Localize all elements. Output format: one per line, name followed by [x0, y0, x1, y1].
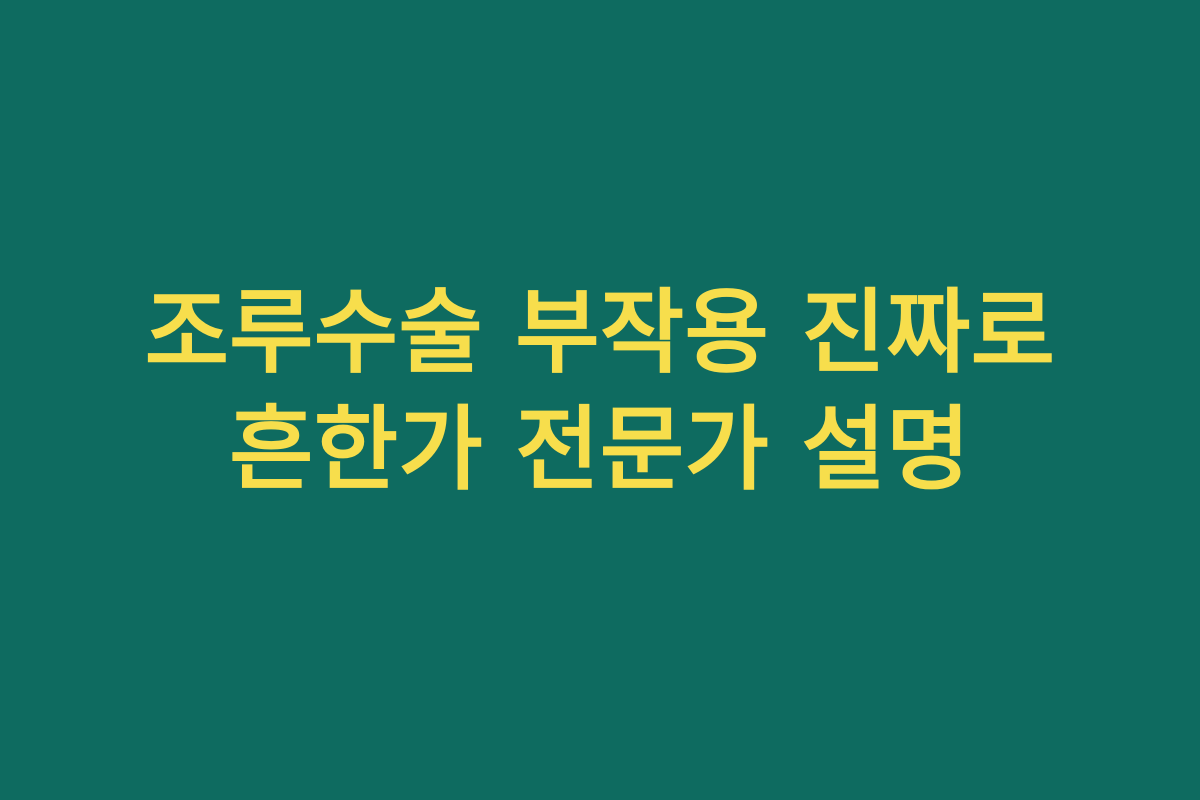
headline-line-2: 흔한가 전문가 설명 — [40, 391, 1160, 508]
headline-text-block: 조루수술 부작용 진짜로 흔한가 전문가 설명 — [40, 274, 1160, 508]
banner-canvas: 조루수술 부작용 진짜로 흔한가 전문가 설명 — [0, 0, 1200, 800]
headline-line-1: 조루수술 부작용 진짜로 — [40, 274, 1160, 391]
